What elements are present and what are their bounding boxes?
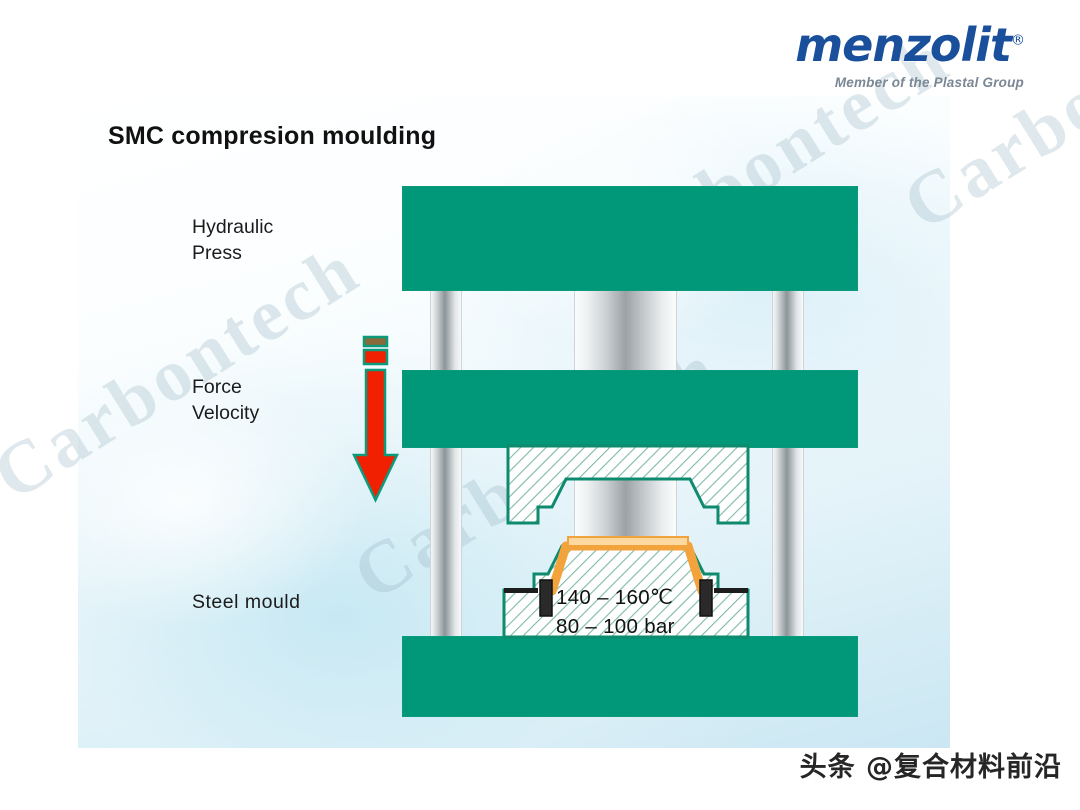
force-arrow-tail-segment	[364, 350, 387, 364]
label-hydraulic-press: Hydraulic Press	[192, 215, 273, 266]
process-pressure: 80 – 100 bar	[556, 612, 675, 641]
page-title: SMC compresion moulding	[108, 122, 436, 151]
label-steel-mould: Steel mould	[192, 590, 300, 616]
source-watermark: 头条 @复合材料前沿	[800, 745, 1062, 784]
registered-trademark-icon: ®	[1011, 33, 1024, 49]
label-force-velocity: Force Velocity	[192, 375, 259, 426]
process-temperature: 140 – 160℃	[556, 583, 675, 612]
logo-tagline: Member of the Plastal Group	[795, 75, 1024, 90]
force-arrow-tail-segment	[364, 337, 387, 346]
brand-logo: menzolit® Member of the Plastal Group	[795, 22, 1024, 90]
logo-text: menzolit	[795, 18, 1011, 72]
logo-wordmark: menzolit®	[795, 22, 1024, 68]
process-parameters: 140 – 160℃ 80 – 100 bar	[556, 583, 675, 641]
force-arrow-body	[354, 370, 397, 500]
